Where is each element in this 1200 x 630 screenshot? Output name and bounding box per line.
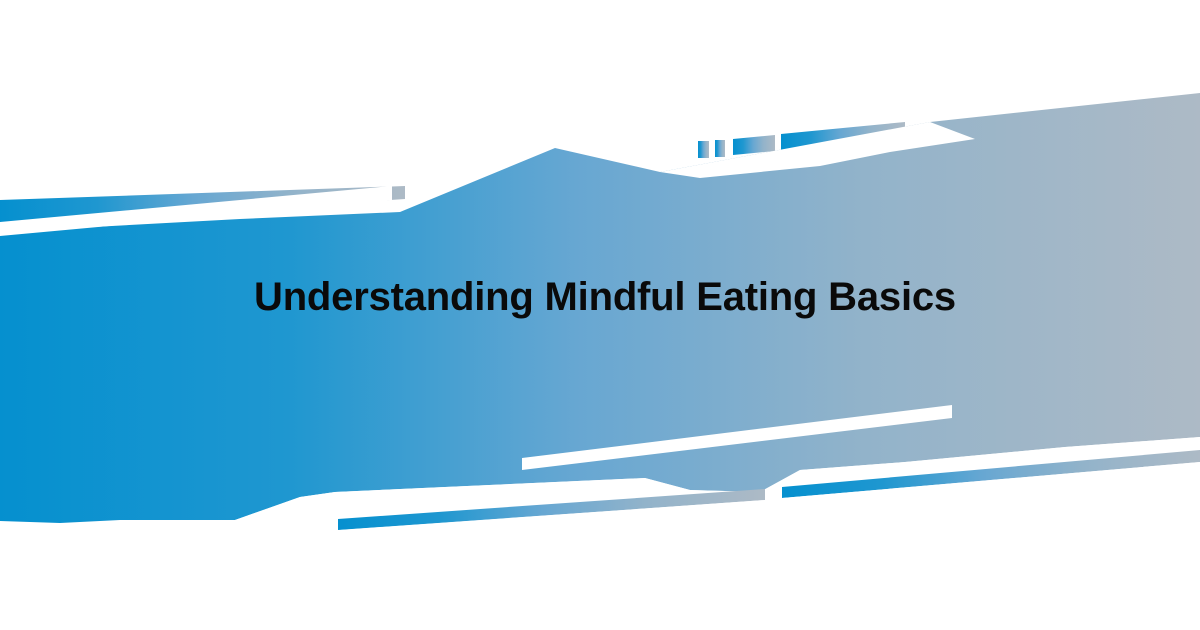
top-right-dash-2 bbox=[715, 140, 725, 157]
banner-background-art bbox=[0, 0, 1200, 630]
banner-canvas: Understanding Mindful Eating Basics bbox=[0, 0, 1200, 630]
top-right-dash-1 bbox=[698, 141, 709, 158]
